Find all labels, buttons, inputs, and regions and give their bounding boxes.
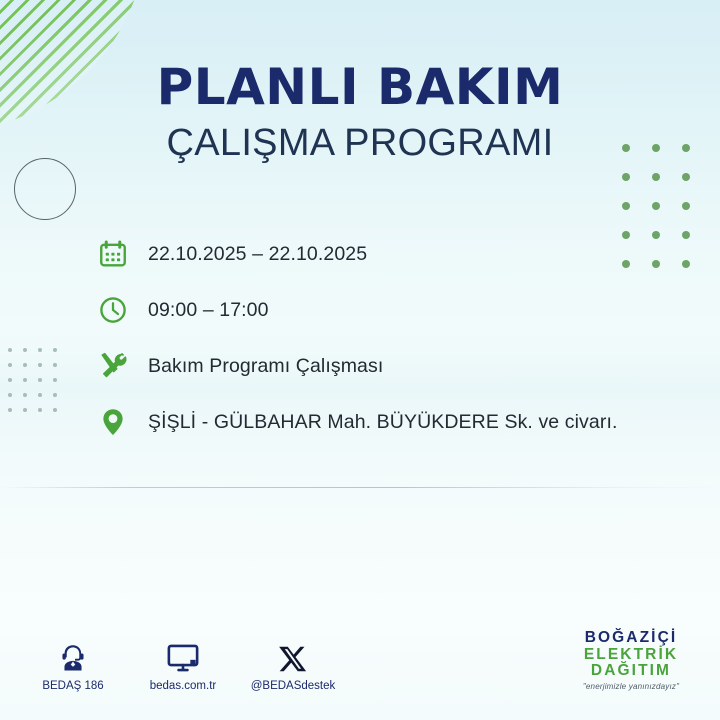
x-logo-icon	[278, 640, 308, 674]
clock-icon	[96, 293, 130, 327]
info-row-time: 09:00 – 17:00	[96, 284, 696, 336]
info-row-date: 22.10.2025 – 22.10.2025	[96, 228, 696, 280]
circle-outline-decoration	[14, 158, 76, 220]
dot	[38, 408, 42, 412]
dot	[38, 348, 42, 352]
dot	[8, 408, 12, 412]
tools-icon	[96, 349, 130, 383]
logo-tagline: "enerjimizle yanınızdayız"	[560, 682, 702, 691]
dot	[682, 202, 690, 210]
contact-website[interactable]: bedas.com.tr	[140, 640, 226, 692]
dot	[53, 408, 57, 412]
dot	[23, 408, 27, 412]
info-row-worktype: Bakım Programı Çalışması	[96, 340, 696, 392]
brand-logo: BOĞAZİÇİ ELEKTRİK DAĞITIM "enerjimizle y…	[560, 630, 702, 691]
poster-header: PLANLI BAKIM ÇALIŞMA PROGRAMI	[0, 62, 720, 162]
info-text-worktype: Bakım Programı Çalışması	[148, 355, 383, 378]
logo-line-bogazici: BOĞAZİÇİ	[560, 630, 702, 647]
contact-label-website: bedas.com.tr	[150, 680, 216, 692]
info-text-date: 22.10.2025 – 22.10.2025	[148, 243, 367, 266]
page-subtitle: ÇALIŞMA PROGRAMI	[0, 124, 720, 162]
info-row-location: ŞİŞLİ - GÜLBAHAR Mah. BÜYÜKDERE Sk. ve c…	[96, 396, 696, 448]
dot	[38, 378, 42, 382]
dot	[8, 393, 12, 397]
dot-grid-left-decoration	[8, 348, 68, 423]
info-list: 22.10.2025 – 22.10.2025 09:00 – 17:00 Ba…	[96, 228, 696, 452]
logo-line-dagitim: DAĞITIM	[560, 663, 702, 680]
dot	[53, 393, 57, 397]
section-divider	[0, 487, 720, 488]
dot	[8, 378, 12, 382]
contact-label-call-center: BEDAŞ 186	[42, 680, 103, 692]
dot	[23, 348, 27, 352]
calendar-icon	[96, 237, 130, 271]
info-text-location: ŞİŞLİ - GÜLBAHAR Mah. BÜYÜKDERE Sk. ve c…	[148, 411, 617, 434]
dot	[652, 173, 660, 181]
monitor-icon	[166, 640, 200, 674]
dot	[23, 393, 27, 397]
dot	[53, 378, 57, 382]
dot	[652, 202, 660, 210]
dot	[8, 363, 12, 367]
page-title: PLANLI BAKIM	[0, 62, 720, 112]
dot	[53, 363, 57, 367]
dot	[53, 348, 57, 352]
dot	[8, 348, 12, 352]
dot	[38, 393, 42, 397]
dot	[622, 202, 630, 210]
contact-x-account[interactable]: @BEDASdestek	[250, 640, 336, 692]
footer-contacts: BEDAŞ 186 bedas.com.tr @BEDASdestek	[30, 640, 360, 692]
headset-icon	[57, 640, 89, 674]
info-text-time: 09:00 – 17:00	[148, 299, 269, 322]
logo-line-elektrik: ELEKTRİK	[560, 647, 702, 664]
map-pin-icon	[96, 405, 130, 439]
dot	[622, 173, 630, 181]
maintenance-announcement-poster: PLANLI BAKIM ÇALIŞMA PROGRAMI	[0, 0, 720, 720]
dot	[23, 363, 27, 367]
dot	[23, 378, 27, 382]
contact-call-center[interactable]: BEDAŞ 186	[30, 640, 116, 692]
contact-label-x-account: @BEDASdestek	[251, 680, 336, 692]
dot	[682, 173, 690, 181]
dot	[38, 363, 42, 367]
